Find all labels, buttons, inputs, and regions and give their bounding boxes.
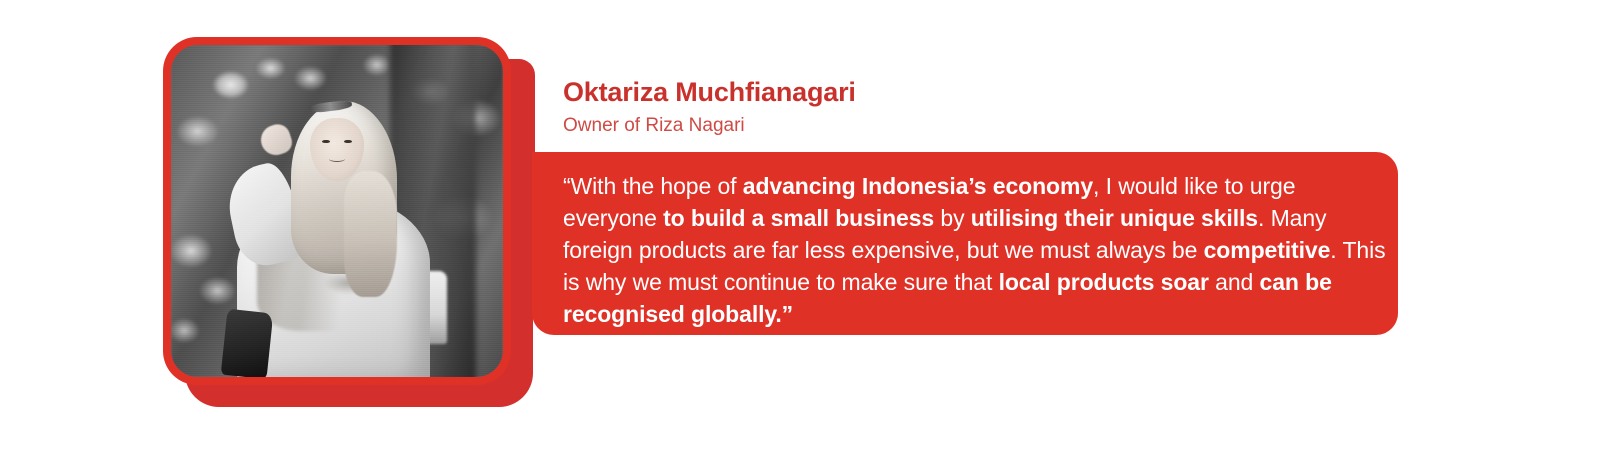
person-name: Oktariza Muchfianagari xyxy=(563,78,1363,108)
quote-text: “With the hope of advancing Indonesia’s … xyxy=(563,170,1387,330)
quote-bubble: “With the hope of advancing Indonesia’s … xyxy=(532,152,1398,335)
quote-segment: by xyxy=(934,205,971,231)
photo-red-frame xyxy=(163,37,511,385)
quote-emphasis: competitive xyxy=(1204,237,1331,263)
portrait-photo-block xyxy=(163,37,533,407)
quote-segment: “With the hope of xyxy=(563,173,743,199)
quote-emphasis: to build a small business xyxy=(663,205,934,231)
quote-emphasis: local products soar xyxy=(999,269,1209,295)
photo-grain-overlay xyxy=(171,45,503,377)
attribution-block: Oktariza Muchfianagari Owner of Riza Nag… xyxy=(563,78,1363,137)
quote-emphasis: utilising their unique skills xyxy=(971,205,1258,231)
portrait-photo xyxy=(171,45,503,377)
quote-segment: and xyxy=(1209,269,1260,295)
person-role: Owner of Riza Nagari xyxy=(563,115,1363,138)
quote-emphasis: advancing Indonesia’s economy xyxy=(743,173,1093,199)
testimonial-card: Oktariza Muchfianagari Owner of Riza Nag… xyxy=(0,0,1600,455)
